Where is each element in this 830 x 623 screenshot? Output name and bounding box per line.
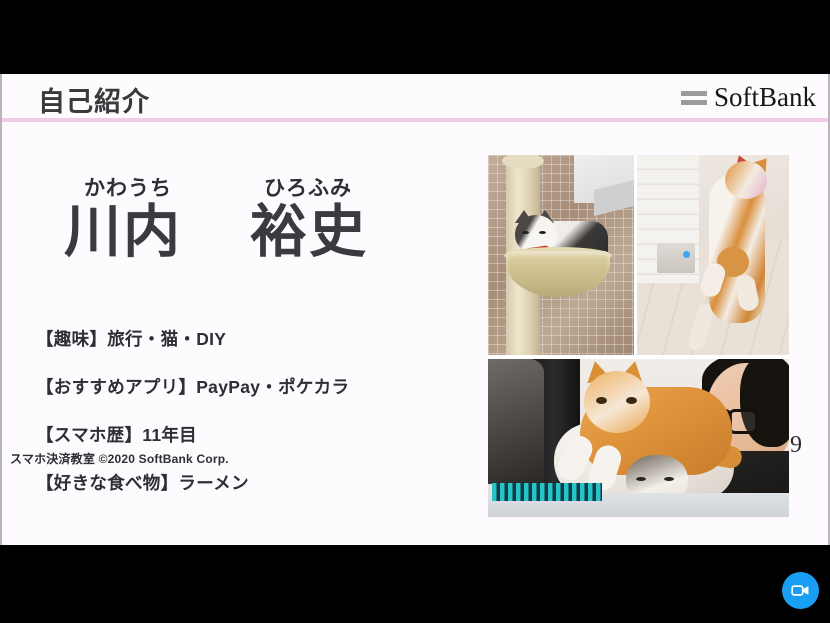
list-item: 【おすすめアプリ】PayPay・ポケカラ [36,374,466,399]
page-number: 9 [790,432,802,459]
name-block: かわうち ひろふみ 川内 裕史 [64,172,444,266]
orange-cat-eye-right [626,397,637,404]
cat-head [725,161,767,199]
kanji-given: 裕史 [250,200,368,266]
air-purifier [657,243,695,273]
list-item: 【趣味】旅行・猫・DIY [36,326,466,351]
presentation-viewer: 自己紹介 SoftBank かわうち ひろふみ 川内 裕史 【趣味】旅行・猫・D… [0,0,830,623]
photo-person-with-cats [488,359,789,517]
photo-cat-in-hammock [488,155,634,355]
softbank-bars-icon [681,91,707,105]
profile-facts-list: 【趣味】旅行・猫・DIY 【おすすめアプリ】PayPay・ポケカラ 【スマホ歴】… [36,326,466,518]
video-camera-icon [790,580,811,601]
header-divider [2,118,830,122]
cat-eye-left [522,231,529,234]
tabby-cat-eye-left [636,477,646,481]
list-item: 【好きな食べ物】ラーメン [36,470,466,495]
list-item: 【スマホ歴】11年目 [36,422,466,447]
video-call-button[interactable] [782,572,819,609]
sofa [488,359,544,484]
furigana-row: かわうち ひろふみ [64,172,444,198]
slide-canvas: 自己紹介 SoftBank かわうち ひろふみ 川内 裕史 【趣味】旅行・猫・D… [0,74,830,545]
furigana-family: かわうち [64,172,250,198]
page-title: 自己紹介 [38,80,150,119]
orange-cat-eye-left [596,397,607,404]
glasses-right-lens [728,409,758,434]
status-led [683,251,690,258]
kanji-row: 川内 裕史 [64,200,444,266]
softbank-logo: SoftBank [681,84,816,111]
tabby-cat-eye-right [664,477,674,481]
copyright-notice: スマホ決済教室 ©2020 SoftBank Corp. [10,450,229,467]
photo-collage [488,155,789,517]
brand-name: SoftBank [714,84,816,111]
orange-cat-head [584,371,650,433]
cat-eye-right [539,231,546,234]
photo-cat-on-floor [637,155,789,355]
kanji-family: 川内 [64,200,250,266]
furigana-given: ひろふみ [250,172,352,198]
green-fringe [492,483,602,501]
